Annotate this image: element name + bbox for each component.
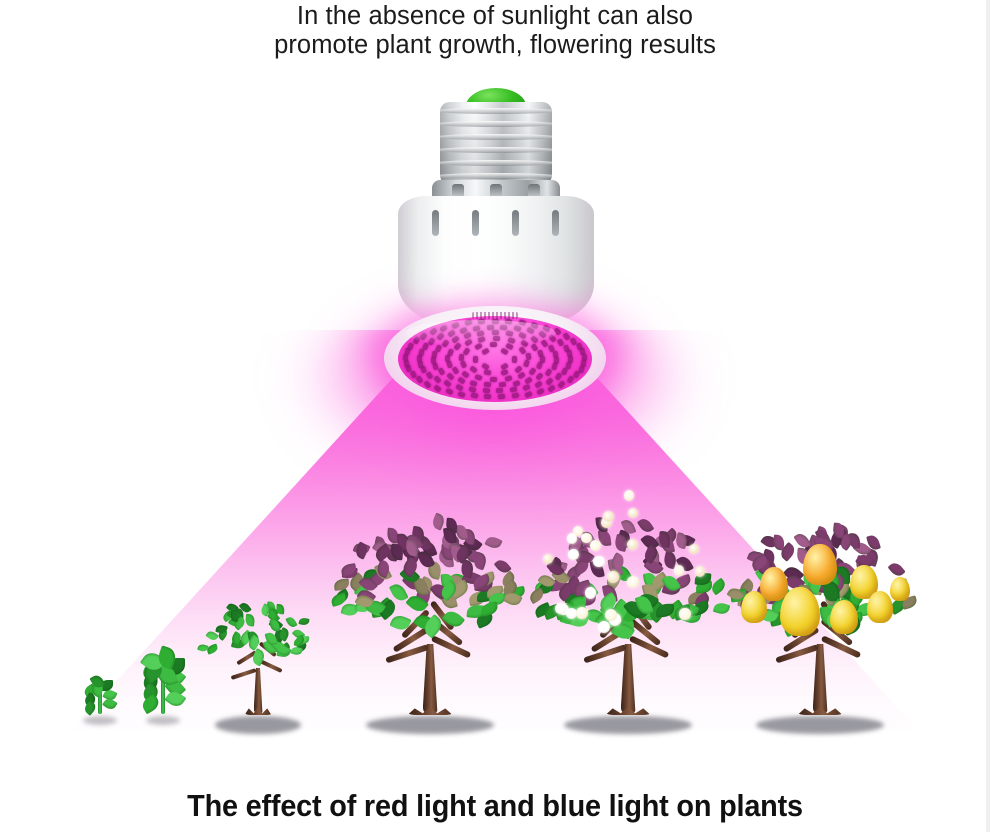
bulb-brand-mark	[472, 312, 518, 319]
led-chip	[481, 348, 490, 356]
plant-stage-6	[720, 524, 920, 740]
led-chip	[551, 362, 558, 370]
tree-blossom	[555, 603, 566, 614]
led-chip	[484, 370, 492, 376]
led-chip	[416, 375, 424, 384]
led-chip	[554, 372, 562, 381]
tree-leaf	[637, 516, 655, 535]
housing-vent-slot	[432, 210, 439, 236]
tree-leaf	[206, 643, 219, 654]
led-chip	[561, 367, 568, 375]
led-chip	[523, 359, 530, 367]
led-chip	[459, 354, 465, 361]
led-chip	[434, 384, 443, 392]
tree-branch	[583, 644, 627, 663]
led-chip	[444, 380, 453, 388]
tree-fruit	[780, 587, 820, 636]
led-chip	[544, 368, 552, 377]
led-chip	[536, 388, 545, 396]
lens-gloss	[406, 320, 556, 346]
tree-trunk	[813, 644, 828, 714]
led-chip	[447, 348, 454, 356]
led-chip	[525, 353, 531, 361]
caption-text: The effect of red light and blue light o…	[35, 786, 956, 826]
led-chip	[511, 393, 519, 399]
bulb-screw-base	[440, 102, 552, 190]
ground-shadow	[146, 716, 180, 725]
tree-leaf	[772, 534, 785, 550]
ground-shadow	[83, 716, 117, 725]
led-chip	[469, 366, 478, 374]
infographic-canvas: In the absence of sunlight can also prom…	[0, 0, 990, 832]
led-chip	[482, 388, 490, 394]
tree-fruit	[741, 591, 767, 623]
led-chip	[455, 383, 464, 391]
led-chip	[451, 366, 459, 375]
tree-branch	[259, 659, 282, 673]
tree-branch	[231, 668, 257, 680]
tree-blossom	[566, 608, 577, 619]
tree-blossom	[585, 587, 597, 599]
led-chip	[566, 375, 574, 384]
plant-stage-5	[528, 514, 728, 740]
led-chip	[557, 380, 565, 389]
ground-shadow	[756, 716, 884, 734]
tree-blossom	[593, 556, 604, 567]
tree-blossom	[603, 511, 613, 521]
tree-leaf	[888, 560, 906, 579]
tree-blossom	[576, 607, 587, 618]
led-chip	[496, 388, 503, 393]
led-chip	[426, 371, 434, 380]
led-chip	[470, 393, 478, 399]
tree-leaf	[285, 615, 297, 628]
housing-vent-slot	[512, 210, 519, 236]
led-chip	[460, 360, 467, 368]
tree-blossom	[598, 621, 610, 633]
led-chip	[504, 375, 512, 382]
tree-blossom	[627, 539, 638, 550]
plant-stage-2	[128, 628, 198, 740]
tree-fruit	[830, 600, 858, 634]
led-chip	[529, 367, 537, 376]
screw-thread	[440, 121, 552, 127]
led-chip	[501, 348, 510, 356]
tree-fruit	[890, 577, 910, 601]
tree-leaf	[484, 534, 502, 551]
led-chip	[490, 377, 497, 382]
tree-blossom	[624, 490, 634, 500]
led-chip	[484, 394, 491, 400]
tree-blossom	[605, 609, 617, 621]
screw-thread	[440, 108, 552, 114]
led-chip	[500, 369, 508, 376]
tree-branch	[385, 644, 429, 663]
screw-thread	[440, 134, 552, 140]
led-chip	[512, 356, 517, 363]
led-chip	[434, 376, 442, 385]
plant-leaf	[102, 696, 117, 711]
housing-vent-slot	[472, 210, 479, 236]
tree-leaf	[298, 617, 309, 626]
tree-blossom	[674, 565, 685, 576]
led-chip	[536, 362, 543, 370]
led-chip	[445, 387, 454, 395]
plant-stage-1	[65, 662, 135, 740]
led-chip	[473, 355, 478, 362]
led-chip	[536, 373, 544, 382]
tree-leaf	[245, 614, 255, 626]
tree-blossom	[543, 554, 553, 564]
headline-line-1: In the absence of sunlight can also	[0, 2, 990, 31]
headline-line-2: promote plant growth, flowering results	[0, 31, 990, 60]
led-chip	[457, 390, 465, 397]
tree-fruit	[867, 591, 893, 623]
ground-shadow	[564, 716, 692, 734]
screw-thread	[440, 173, 552, 179]
tree-trunk	[621, 644, 636, 714]
ground-shadow	[215, 716, 301, 734]
tree-blossom	[679, 608, 690, 619]
led-chip	[475, 374, 483, 381]
tree-blossom	[607, 571, 619, 583]
led-chip	[498, 394, 505, 400]
tree-branch	[775, 644, 819, 663]
tree-leaf	[290, 646, 303, 657]
led-chip	[463, 347, 471, 356]
tree-blossom	[695, 566, 705, 576]
tree-blossom	[627, 576, 639, 588]
led-chip	[498, 382, 506, 388]
led-chip	[424, 380, 432, 389]
plant-stage-3	[193, 594, 323, 740]
led-chip	[438, 368, 446, 377]
housing-vent-slot	[552, 210, 559, 236]
tree-blossom	[689, 544, 699, 554]
tree-blossom	[590, 540, 601, 551]
screw-thread	[440, 147, 552, 153]
plant-stage-4	[330, 514, 530, 740]
tree-trunk	[423, 644, 438, 714]
led-chip	[524, 390, 532, 397]
led-grow-bulb	[376, 88, 614, 408]
tree-leaf	[333, 578, 349, 591]
ground-shadow	[366, 716, 494, 734]
tree-fruit	[803, 544, 837, 585]
bulb-housing	[398, 196, 594, 324]
headline-text: In the absence of sunlight can also prom…	[0, 2, 990, 60]
screw-thread	[440, 160, 552, 166]
tree-blossom	[628, 508, 638, 518]
